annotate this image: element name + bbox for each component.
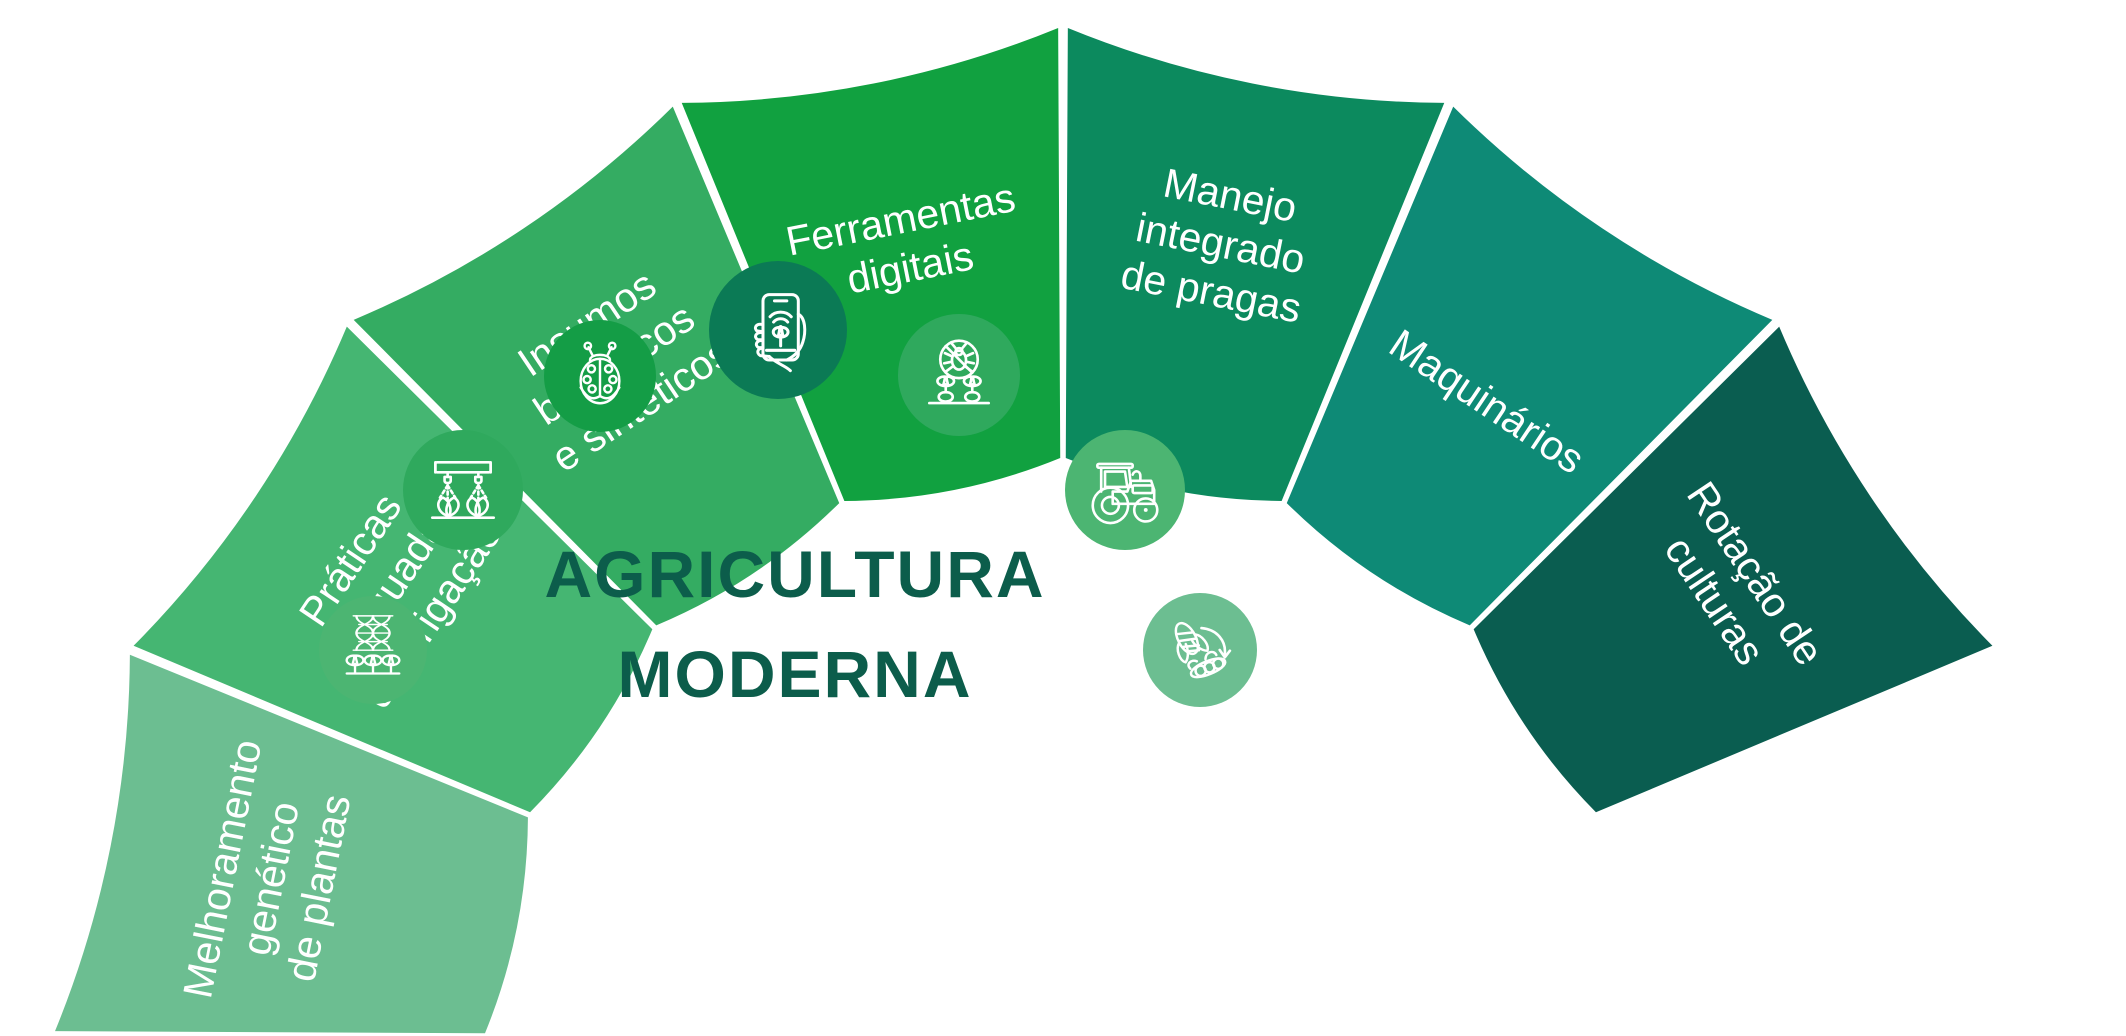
hand-phone-plant-icon-badge[interactable] [709, 261, 847, 399]
corn-soy-rotation-icon-badge[interactable] [1143, 593, 1257, 707]
dna-sprouts-icon-badge[interactable] [319, 596, 427, 704]
center-title-line1: AGRICULTURA [544, 537, 1045, 611]
infographic-canvas: Melhoramentogenéticode plantasPráticasad… [0, 0, 2126, 1036]
tractor-icon-badge[interactable] [1065, 430, 1185, 550]
irrigation-sprinkler-icon-badge[interactable] [403, 430, 523, 550]
ladybug-icon-badge[interactable] [544, 320, 656, 432]
no-pest-sprouts-icon-badge[interactable] [898, 314, 1020, 436]
center-title-line2: MODERNA [618, 637, 973, 711]
radial-wheel: Melhoramentogenéticode plantasPráticasad… [0, 0, 2126, 1036]
